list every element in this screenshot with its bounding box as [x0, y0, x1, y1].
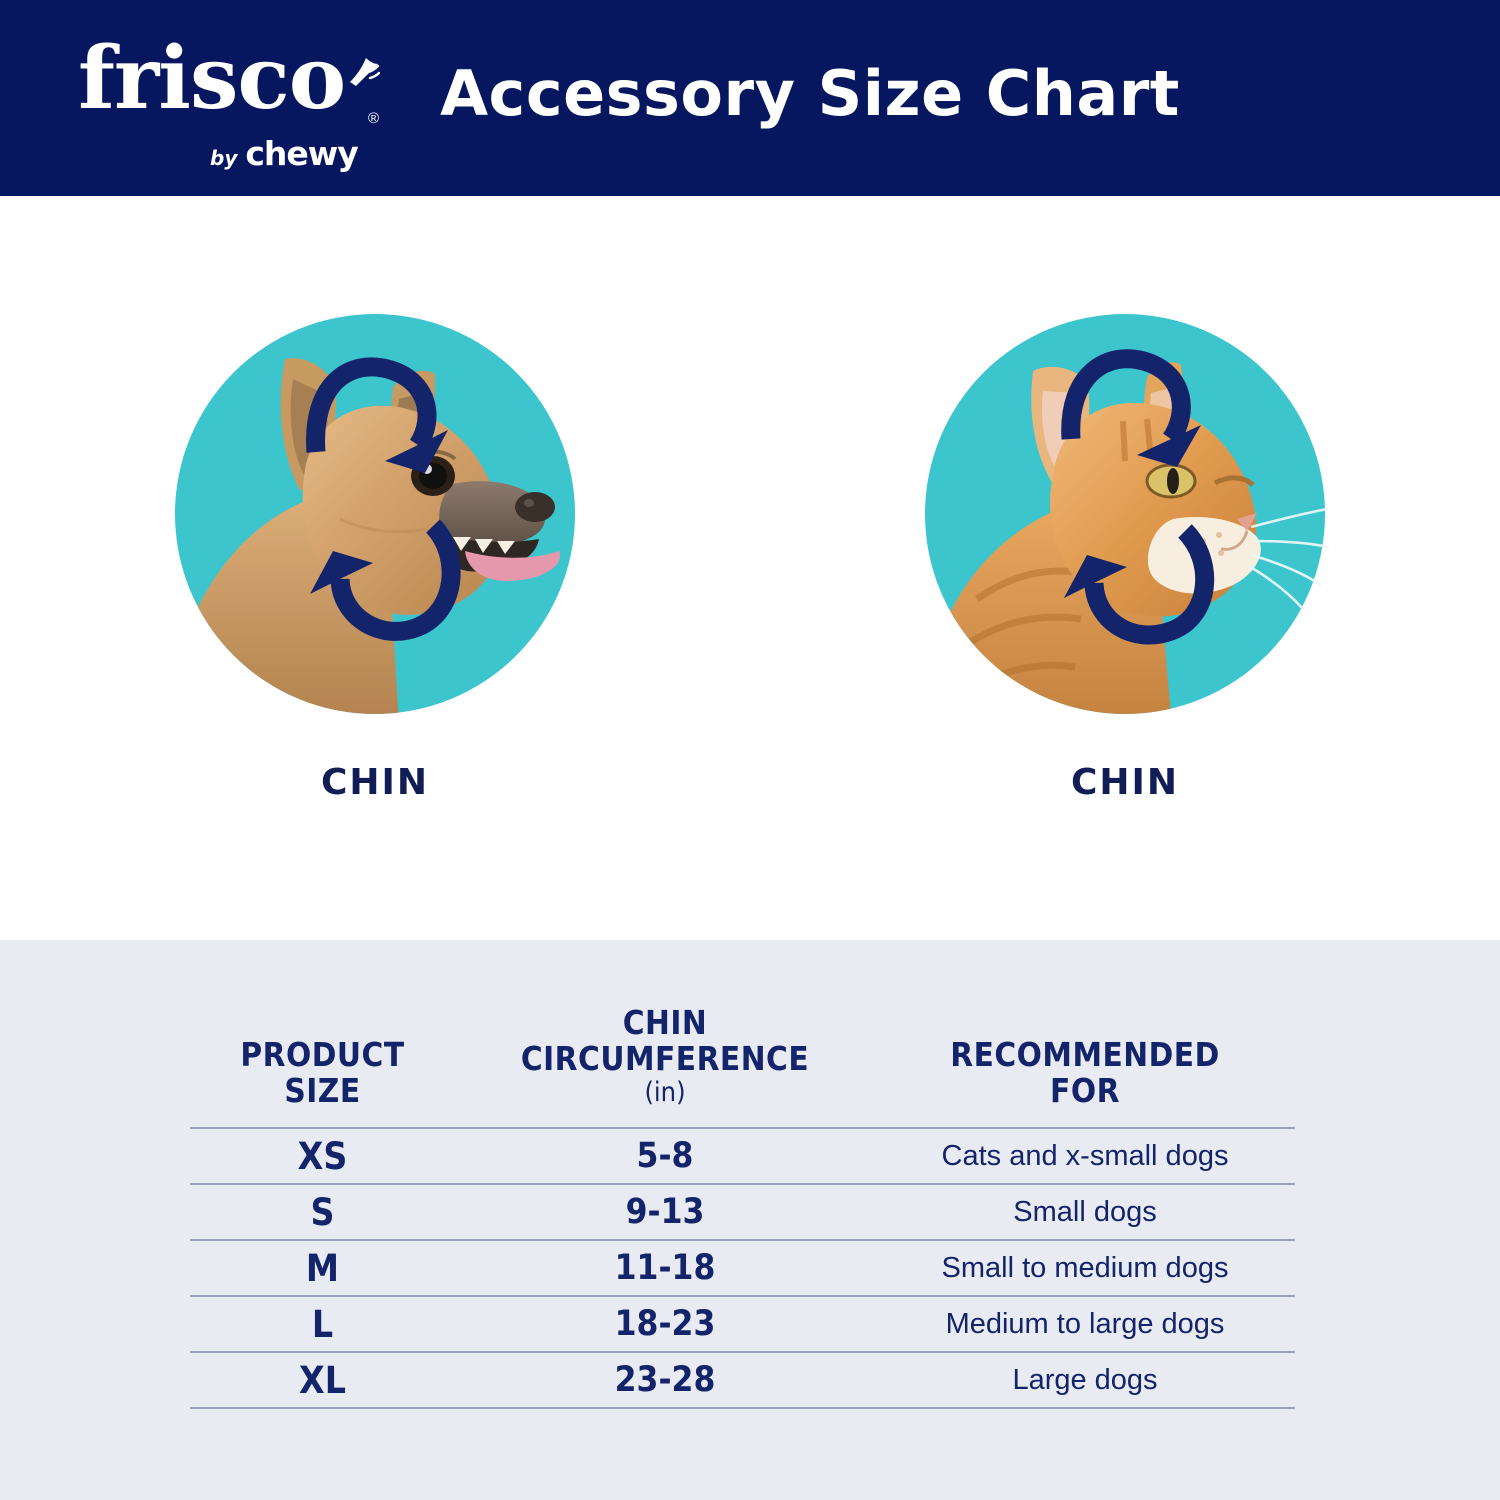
header-row: PRODUCT SIZE CHIN CIRCUMFERENCE (in) REC…: [190, 1005, 1295, 1128]
header-product-size: PRODUCT SIZE: [190, 1005, 455, 1128]
dog-photo: [135, 269, 615, 749]
cell-size: S: [190, 1184, 455, 1240]
cat-photo: [885, 269, 1365, 749]
cat-circle-wrap: [925, 314, 1325, 714]
header-chin-circumference-unit: (in): [455, 1077, 875, 1109]
header-recommended-for: RECOMMENDED FOR: [875, 1005, 1295, 1128]
size-table-panel: PRODUCT SIZE CHIN CIRCUMFERENCE (in) REC…: [0, 940, 1500, 1500]
cell-recommended: Cats and x-small dogs: [875, 1128, 1295, 1184]
chewy-wordmark: chewy: [245, 134, 357, 173]
cell-circumference: 18-23: [455, 1296, 875, 1352]
by-label: by: [210, 146, 237, 170]
header-product-size-line2: SIZE: [284, 1071, 360, 1110]
dog-measurement-label: CHIN: [0, 762, 750, 803]
illustration-row: CHIN: [0, 196, 1500, 940]
cell-size: XL: [190, 1352, 455, 1408]
cat-measurement-label: CHIN: [750, 762, 1500, 803]
cat-illustration-panel: CHIN: [750, 196, 1500, 940]
table-row: L 18-23 Medium to large dogs: [190, 1296, 1295, 1352]
header-chin-circumference-line2: CIRCUMFERENCE: [521, 1039, 809, 1078]
cell-recommended: Small to medium dogs: [875, 1240, 1295, 1296]
table-row: S 9-13 Small dogs: [190, 1184, 1295, 1240]
size-table: PRODUCT SIZE CHIN CIRCUMFERENCE (in) REC…: [190, 1005, 1295, 1409]
cell-recommended: Medium to large dogs: [875, 1296, 1295, 1352]
size-table-header: PRODUCT SIZE CHIN CIRCUMFERENCE (in) REC…: [190, 1005, 1295, 1128]
dog-illustration-panel: CHIN: [0, 196, 750, 940]
frisco-sublogo: by chewy: [210, 134, 358, 173]
size-table-body: XS 5-8 Cats and x-small dogs S 9-13 Smal…: [190, 1128, 1295, 1408]
header-recommended-for-line1: RECOMMENDED: [950, 1035, 1220, 1074]
cell-circumference: 9-13: [455, 1184, 875, 1240]
header-product-size-line1: PRODUCT: [240, 1035, 404, 1074]
table-row: M 11-18 Small to medium dogs: [190, 1240, 1295, 1296]
cell-recommended: Small dogs: [875, 1184, 1295, 1240]
dog-circle-wrap: [175, 314, 575, 714]
header-chin-circumference-line1: CHIN: [623, 1003, 708, 1042]
cell-size: M: [190, 1240, 455, 1296]
cell-circumference: 5-8: [455, 1128, 875, 1184]
cell-circumference: 11-18: [455, 1240, 875, 1296]
table-row: XS 5-8 Cats and x-small dogs: [190, 1128, 1295, 1184]
table-row: XL 23-28 Large dogs: [190, 1352, 1295, 1408]
cell-size: XS: [190, 1128, 455, 1184]
size-chart-page: frisco ® by chewy Accessory Size Chart: [0, 0, 1500, 1500]
page-header: frisco ® by chewy Accessory Size Chart: [0, 0, 1500, 196]
header-recommended-for-line2: FOR: [1050, 1071, 1120, 1110]
page-title: Accessory Size Chart: [0, 58, 1500, 130]
cell-recommended: Large dogs: [875, 1352, 1295, 1408]
cell-size: L: [190, 1296, 455, 1352]
cell-circumference: 23-28: [455, 1352, 875, 1408]
header-chin-circumference: CHIN CIRCUMFERENCE (in): [455, 1005, 875, 1128]
